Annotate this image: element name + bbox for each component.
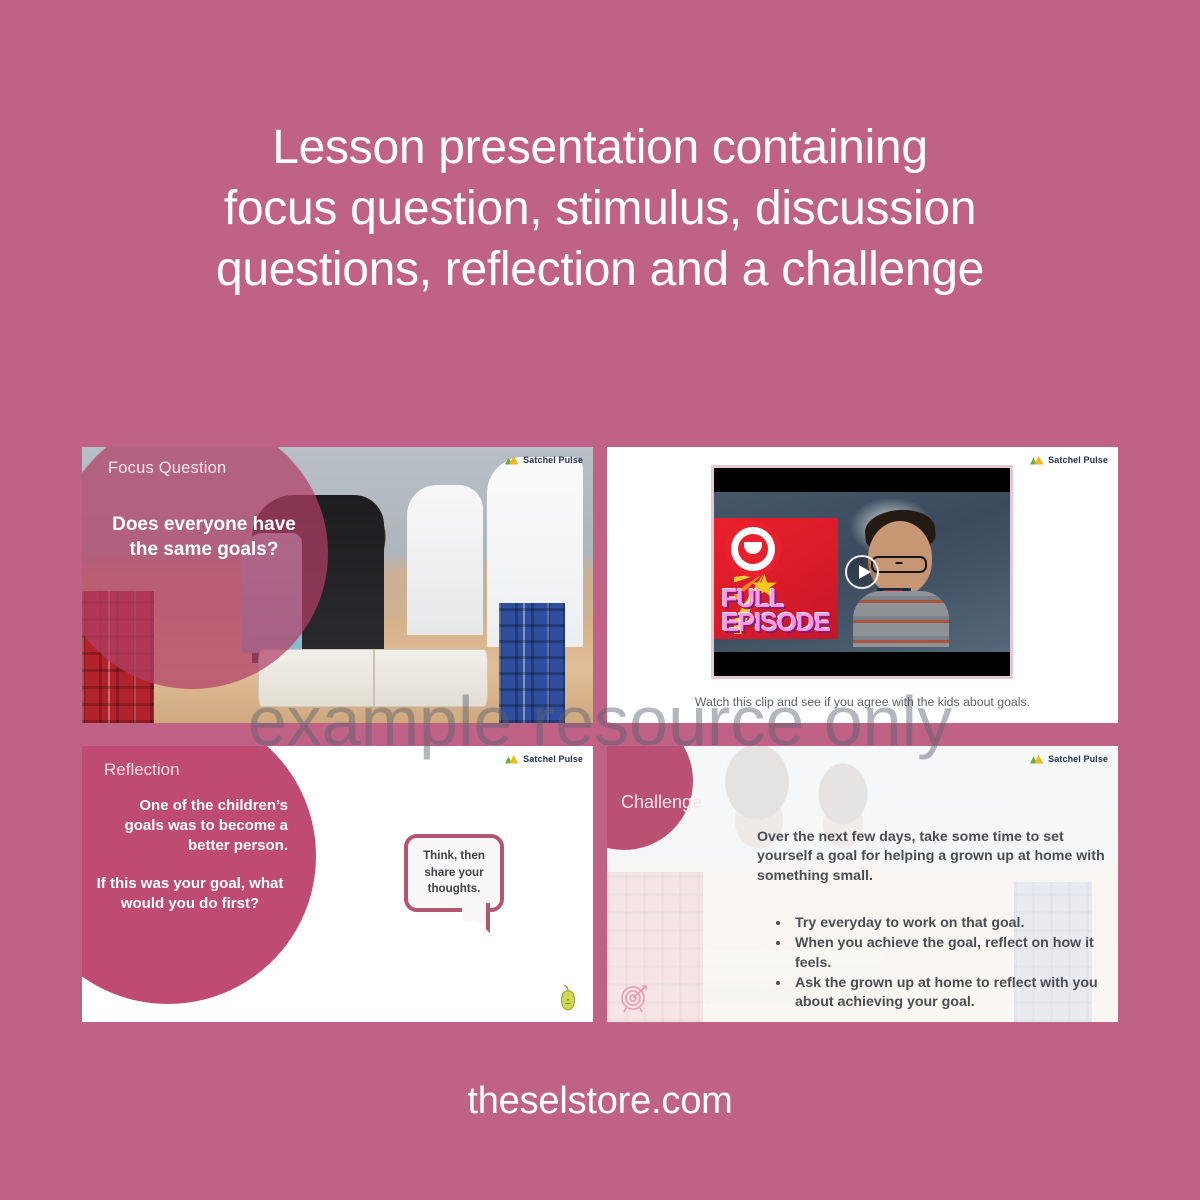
page-title: Lesson presentation containing focus que… (0, 118, 1200, 301)
letterbox-bottom (714, 652, 1010, 676)
photo-tartan-skirt-right (499, 603, 565, 723)
video-thumbnail: FULL EPISODE (714, 468, 1010, 676)
speech-bubble: Think, then share your thoughts. (404, 834, 504, 912)
brand-name: Satchel Pulse (523, 455, 583, 465)
challenge-bullet-list: Try everyday to work on that goal. When … (769, 914, 1109, 1014)
slide-grid: Focus Question Does everyone have the sa… (82, 447, 1118, 1022)
photo-student-middle (407, 485, 483, 635)
mountain-logo-icon (1030, 455, 1044, 465)
pear-icon (557, 984, 579, 1012)
brand-name: Satchel Pulse (523, 754, 583, 764)
satchel-pulse-logo: Satchel Pulse (505, 754, 583, 764)
brand-name: Satchel Pulse (1048, 754, 1108, 764)
mountain-logo-icon (1030, 754, 1044, 764)
slide-label-challenge: Challenge (621, 792, 702, 813)
video-player[interactable]: FULL EPISODE (711, 465, 1013, 679)
slide-focus-question[interactable]: Focus Question Does everyone have the sa… (82, 447, 593, 723)
stimulus-caption: Watch this clip and see if you agree wit… (607, 695, 1118, 709)
satchel-pulse-logo: Satchel Pulse (1030, 455, 1108, 465)
cbc-badge: FULL EPISODE (714, 518, 838, 640)
list-item: When you achieve the goal, reflect on ho… (791, 934, 1109, 973)
list-item: Ask the grown up at home to reflect with… (791, 974, 1109, 1013)
brand-name: Satchel Pulse (1048, 455, 1108, 465)
mountain-logo-icon (505, 754, 519, 764)
slide-label-reflection: Reflection (104, 760, 180, 780)
speech-bubble-tail (462, 903, 490, 933)
satchel-pulse-logo: Satchel Pulse (505, 455, 583, 465)
play-icon[interactable] (845, 555, 879, 589)
slide-challenge[interactable]: Challenge Over the next few days, take s… (607, 746, 1118, 1022)
badge-line-2: EPISODE (721, 607, 830, 637)
letterbox-top (714, 468, 1010, 492)
target-icon (619, 982, 651, 1014)
mountain-logo-icon (505, 455, 519, 465)
list-item: Try everyday to work on that goal. (791, 914, 1109, 933)
slide-label-focus-question: Focus Question (108, 459, 226, 478)
reflection-text-secondary: If this was your goal, what would you do… (90, 874, 290, 914)
page-title-line-3: questions, reflection and a challenge (90, 240, 1110, 301)
challenge-body-text: Over the next few days, take some time t… (757, 828, 1107, 886)
reflection-text-primary: One of the children’s goals was to becom… (98, 796, 288, 856)
slide-stimulus[interactable]: FULL EPISODE Watch this clip and see if … (607, 447, 1118, 723)
page-title-line-2: focus question, stimulus, discussion (90, 179, 1110, 240)
satchel-pulse-logo: Satchel Pulse (1030, 754, 1108, 764)
focus-question-text: Does everyone have the same goals? (104, 512, 304, 563)
page-title-line-1: Lesson presentation containing (90, 118, 1110, 179)
slide-reflection[interactable]: Reflection One of the children’s goals w… (82, 746, 593, 1022)
speech-bubble-text: Think, then share your thoughts. (408, 838, 500, 908)
full-episode-badge-text: FULL EPISODE (721, 586, 830, 635)
photo-open-book (258, 649, 488, 707)
footer-url: theselstore.com (0, 1080, 1200, 1123)
